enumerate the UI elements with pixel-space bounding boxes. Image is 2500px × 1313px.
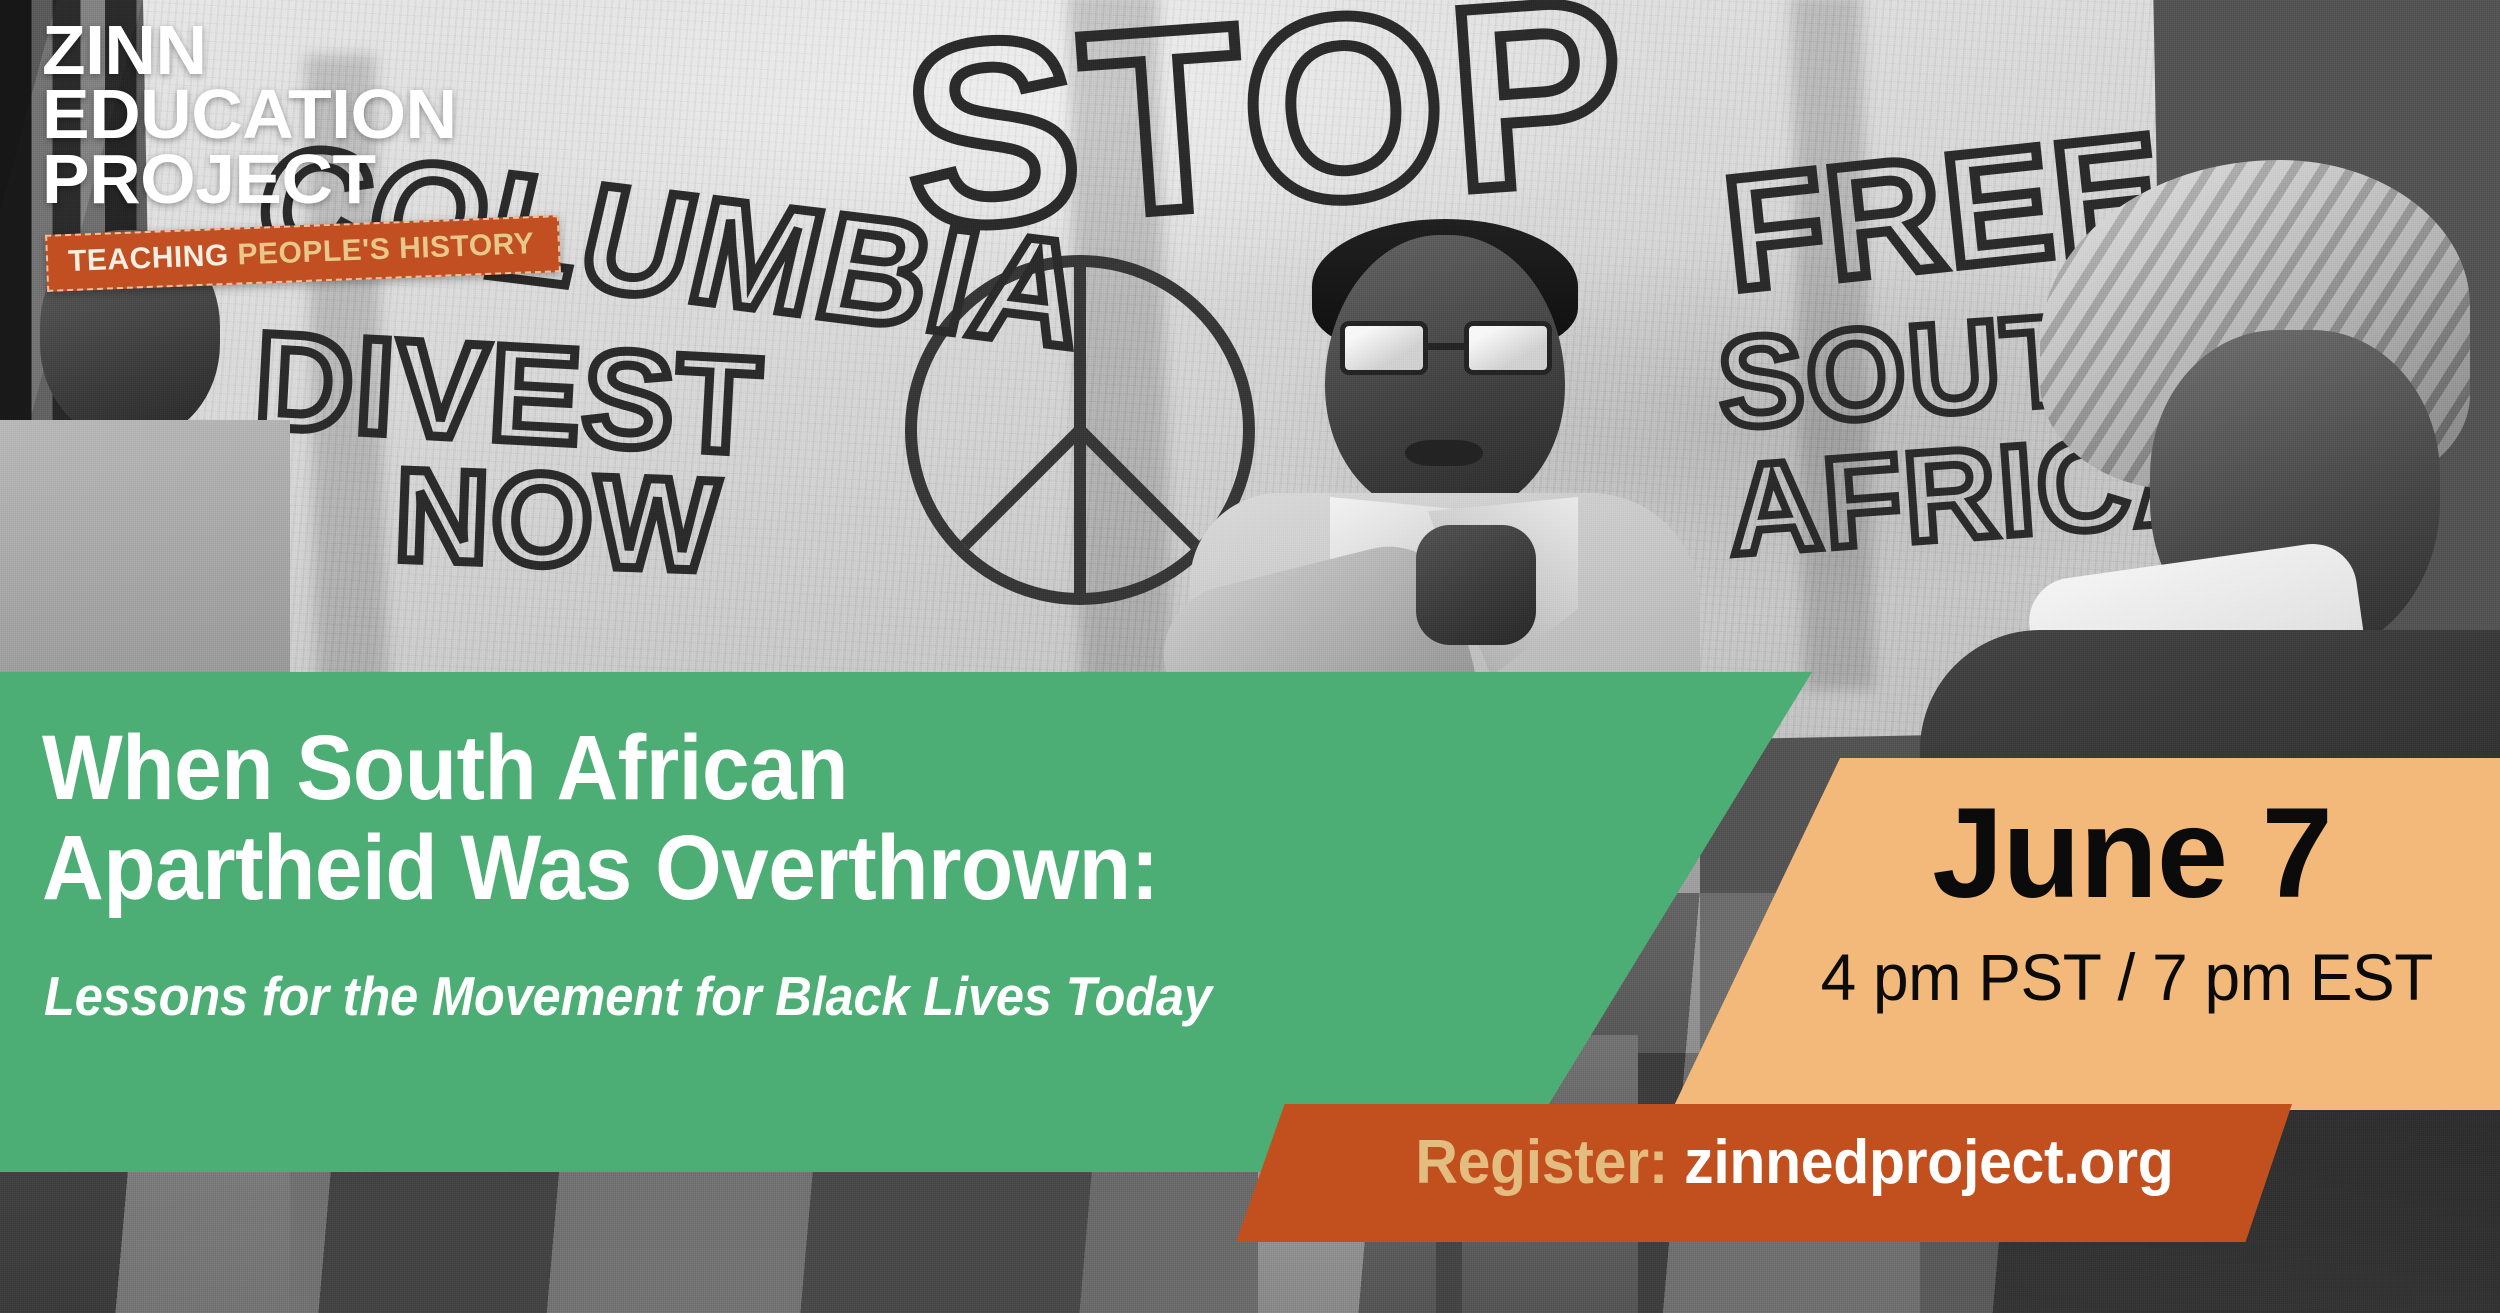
tagline-teaching: TEACHING (68, 239, 230, 278)
tagline-peoples-history: PEOPLE'S HISTORY (237, 227, 535, 271)
event-title-line-2: Apartheid Was Overthrown: (42, 818, 1567, 918)
register-banner[interactable]: Register: zinnedproject.org (1236, 1104, 2292, 1242)
title-panel: When South African Apartheid Was Overthr… (0, 672, 1812, 1172)
zinn-education-project-logo[interactable]: ZINN EDUCATION PROJECT TEACHING PEOPLE'S… (42, 18, 560, 282)
logo-line-project: PROJECT (42, 147, 571, 211)
promotional-graphic: STOP COLUMBIA DIVEST NOW FREE SOUTH AFRI… (0, 0, 2500, 1313)
event-time: 4 pm PST / 7 pm EST (1684, 944, 2487, 1010)
register-label: Register: (1415, 1128, 1668, 1197)
event-title-line-1: When South African (42, 717, 848, 819)
logo-tagline-banner: TEACHING PEOPLE'S HISTORY (45, 215, 561, 292)
logo-line-zinn: ZINN (42, 18, 571, 82)
event-title: When South African Apartheid Was Overthr… (42, 718, 1567, 919)
event-subtitle: Lessons for the Movement for Black Lives… (44, 966, 1516, 1027)
logo-line-education: EDUCATION (42, 82, 571, 146)
register-text: Register: zinnedproject.org (1262, 1132, 2265, 1194)
register-url[interactable]: zinnedproject.org (1684, 1128, 2173, 1197)
